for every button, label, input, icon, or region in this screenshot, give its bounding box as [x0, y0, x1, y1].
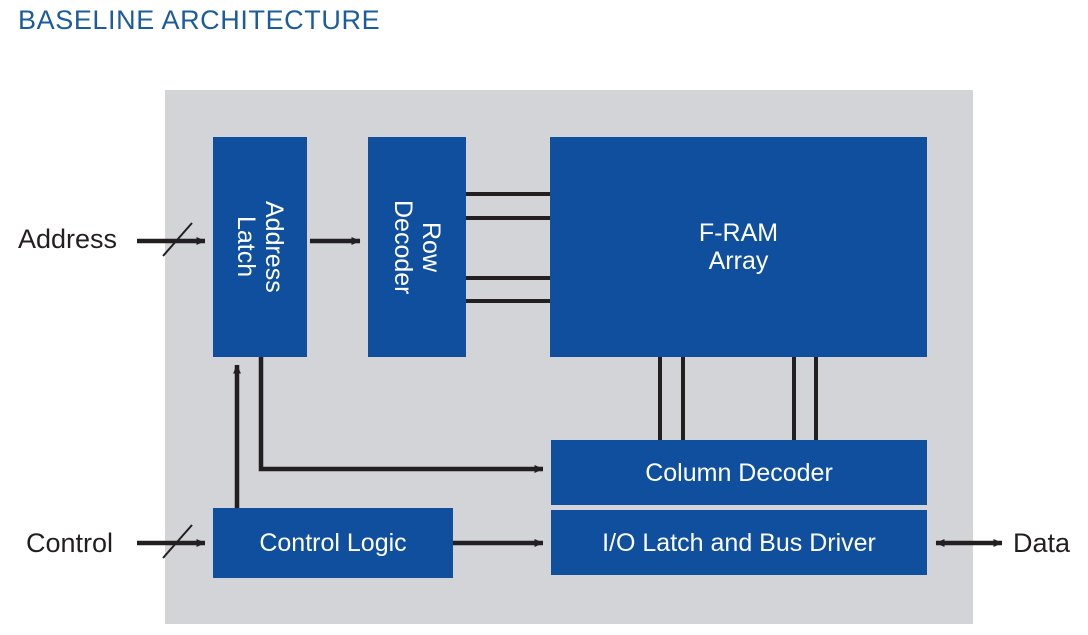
- block-label-io-latch: I/O Latch and Bus Driver: [602, 529, 876, 557]
- block-label-address-latch-line1: Address: [260, 201, 288, 293]
- block-label-control-logic: Control Logic: [259, 529, 406, 557]
- block-label-column-decoder: Column Decoder: [645, 459, 833, 487]
- external-label-address: Address: [18, 224, 117, 255]
- block-control-logic[interactable]: Control Logic: [213, 508, 453, 578]
- block-label-fram-array-line2: Array: [709, 247, 769, 275]
- external-label-data: Data: [1013, 528, 1070, 559]
- block-label-fram-array-line1: F-RAM: [699, 219, 778, 247]
- external-label-control: Control: [26, 528, 113, 559]
- block-column-decoder[interactable]: Column Decoder: [551, 440, 927, 505]
- block-fram-array[interactable]: F-RAM Array: [550, 137, 927, 357]
- block-label-address-latch-line2: Latch: [232, 216, 260, 277]
- block-row-decoder[interactable]: Row Decoder: [368, 137, 466, 357]
- block-address-latch[interactable]: Address Latch: [213, 137, 307, 357]
- block-label-row-decoder-line2: Decoder: [389, 200, 417, 295]
- block-io-latch-and-bus-driver[interactable]: I/O Latch and Bus Driver: [551, 510, 927, 575]
- block-label-row-decoder-line1: Row: [417, 222, 445, 272]
